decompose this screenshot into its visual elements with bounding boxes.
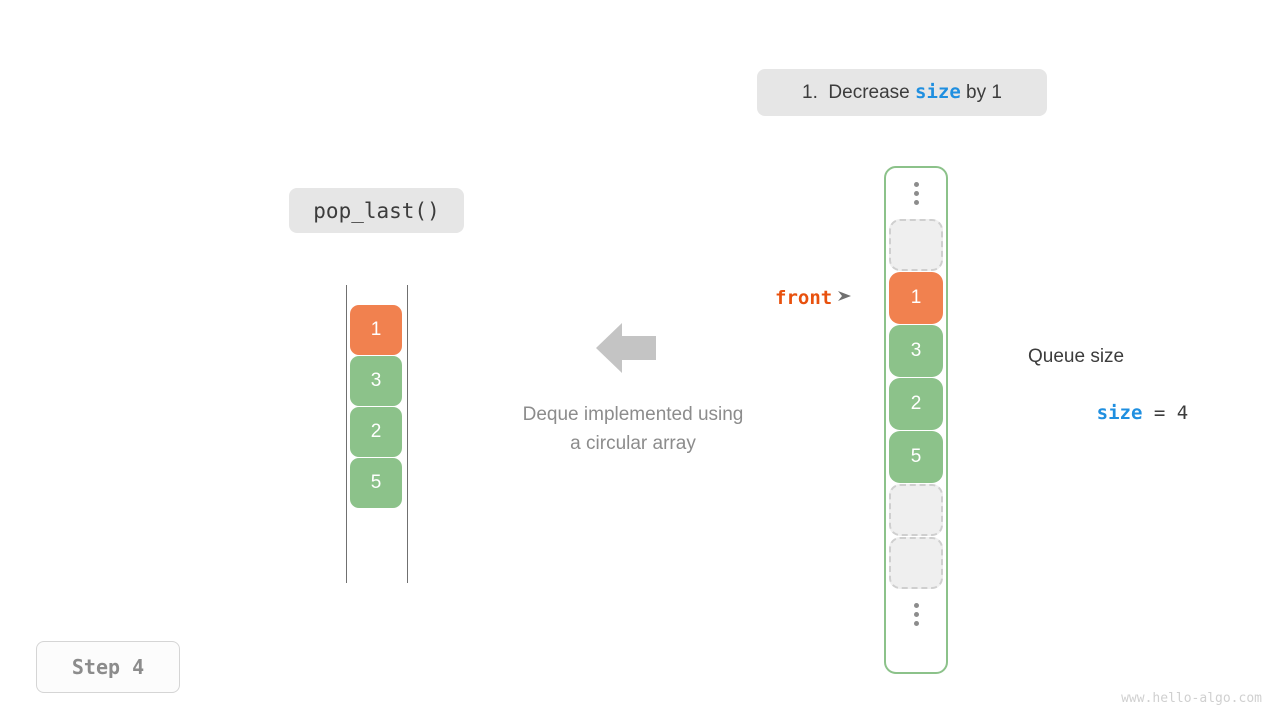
size-info-title: Queue size [1028, 343, 1188, 371]
watermark: www.hello-algo.com [1121, 691, 1262, 706]
deque-cell-value: 5 [371, 472, 382, 494]
deque-cell: 1 [350, 305, 402, 355]
diagram-caption: Deque implemented using a circular array [463, 400, 803, 458]
instruction-text-after: by 1 [961, 82, 1002, 104]
deque-cell-value: 1 [371, 319, 382, 341]
dot-icon [914, 182, 919, 187]
circular-array-slot-value: 3 [911, 340, 922, 362]
arrow-right-icon [838, 289, 852, 307]
dot-icon [914, 200, 919, 205]
dot-icon [914, 191, 919, 196]
dot-icon [914, 612, 919, 617]
size-info-expression: size = 4 [1028, 380, 1188, 446]
circular-array-slot-empty [889, 537, 943, 589]
caption-line-1: Deque implemented using [463, 400, 803, 429]
size-info-value: = 4 [1142, 402, 1188, 424]
operation-label-text: pop_last() [313, 199, 439, 223]
deque-bracket-left [346, 285, 347, 583]
front-pointer-label: front [775, 287, 832, 309]
deque-cell: 5 [350, 458, 402, 508]
deque-cell-value: 2 [371, 421, 382, 443]
step-badge: Step 4 [36, 641, 180, 693]
front-pointer: front [775, 287, 852, 309]
vertical-ellipsis-icon [914, 168, 919, 219]
instruction-code-size: size [915, 81, 961, 103]
circular-array-slot-list: 1 3 2 5 [889, 219, 943, 589]
instruction-text-before: Decrease [818, 82, 915, 104]
diagram-canvas: 1. Decrease size by 1 pop_last() 1 3 2 5 [0, 0, 1280, 720]
circular-array-slot-value: 2 [911, 393, 922, 415]
caption-line-2: a circular array [463, 429, 803, 458]
step-badge-label: Step 4 [72, 655, 144, 679]
circular-array-slot-value: 5 [911, 446, 922, 468]
circular-array-slot-filled: 5 [889, 431, 943, 483]
deque-cell-list: 1 3 2 5 [350, 305, 402, 508]
size-info: Queue size size = 4 [1028, 343, 1188, 446]
deque-bracket-right [407, 285, 408, 583]
size-info-variable: size [1097, 402, 1143, 424]
instruction-number: 1. [802, 82, 818, 104]
left-arrow-icon [596, 323, 656, 373]
circular-array: 1 3 2 5 [884, 166, 948, 674]
deque-cell: 3 [350, 356, 402, 406]
deque-cell-value: 3 [371, 370, 382, 392]
deque-cell: 2 [350, 407, 402, 457]
dot-icon [914, 621, 919, 626]
instruction-banner: 1. Decrease size by 1 [757, 69, 1047, 116]
operation-label: pop_last() [289, 188, 464, 233]
circular-array-slot-value: 1 [911, 287, 922, 309]
circular-array-slot-filled: 2 [889, 378, 943, 430]
circular-array-slot-filled: 3 [889, 325, 943, 377]
circular-array-slot-empty [889, 219, 943, 271]
dot-icon [914, 603, 919, 608]
deque-abstract: 1 3 2 5 [346, 285, 408, 583]
vertical-ellipsis-icon [914, 589, 919, 640]
instruction-row: 1. Decrease size by 1 [802, 81, 1002, 104]
circular-array-slot-filled: 1 [889, 272, 943, 324]
circular-array-slot-empty [889, 484, 943, 536]
